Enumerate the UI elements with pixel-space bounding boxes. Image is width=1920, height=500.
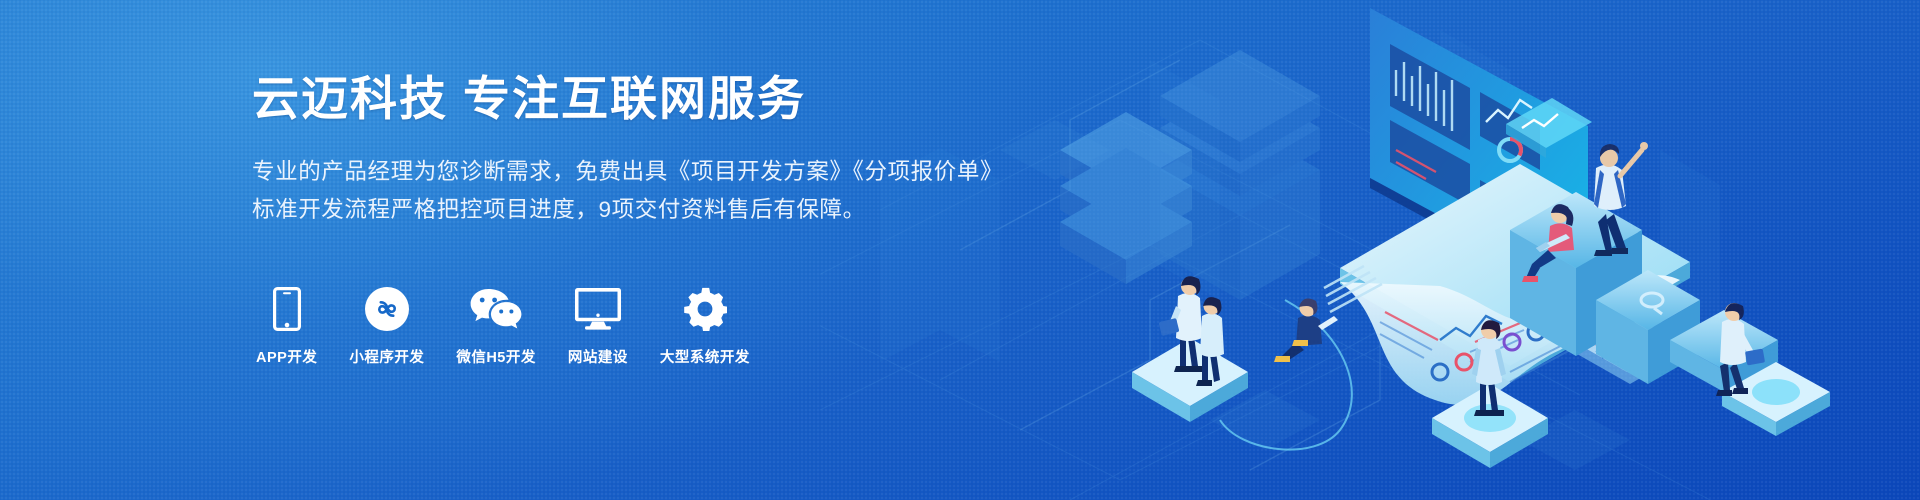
monitor-icon bbox=[575, 286, 621, 332]
subtitle-line-1: 专业的产品经理为您诊断需求，免费出具《项目开发方案》《分项报价单》 bbox=[252, 153, 1092, 192]
service-label: 微信H5开发 bbox=[456, 346, 536, 367]
banner-copy: 云迈科技 专注互联网服务 专业的产品经理为您诊断需求，免费出具《项目开发方案》《… bbox=[252, 72, 1092, 230]
page-title: 云迈科技 专注互联网服务 bbox=[252, 72, 1092, 127]
service-label: 大型系统开发 bbox=[660, 346, 750, 367]
mini-program-icon bbox=[365, 286, 409, 332]
subtitle-line-2: 标准开发流程严格把控项目进度，9项交付资料售后有保障。 bbox=[252, 191, 1092, 230]
gear-icon bbox=[683, 286, 727, 332]
service-item-app[interactable]: APP开发 bbox=[256, 286, 317, 367]
service-label: APP开发 bbox=[256, 346, 317, 367]
service-list: APP开发 小程序开发 bbox=[256, 286, 750, 367]
service-label: 小程序开发 bbox=[349, 346, 424, 367]
service-item-website[interactable]: 网站建设 bbox=[568, 286, 628, 367]
service-item-miniprogram[interactable]: 小程序开发 bbox=[349, 286, 424, 367]
service-item-wechat-h5[interactable]: 微信H5开发 bbox=[456, 286, 536, 367]
promo-banner: 云迈科技 专注互联网服务 专业的产品经理为您诊断需求，免费出具《项目开发方案》《… bbox=[0, 0, 1920, 500]
wechat-icon bbox=[470, 286, 522, 332]
service-item-large-system[interactable]: 大型系统开发 bbox=[660, 286, 750, 367]
isometric-illustration bbox=[1040, 0, 1920, 500]
mobile-phone-icon bbox=[273, 286, 301, 332]
service-label: 网站建设 bbox=[568, 346, 628, 367]
banner-subtitle: 专业的产品经理为您诊断需求，免费出具《项目开发方案》《分项报价单》 标准开发流程… bbox=[252, 153, 1092, 230]
